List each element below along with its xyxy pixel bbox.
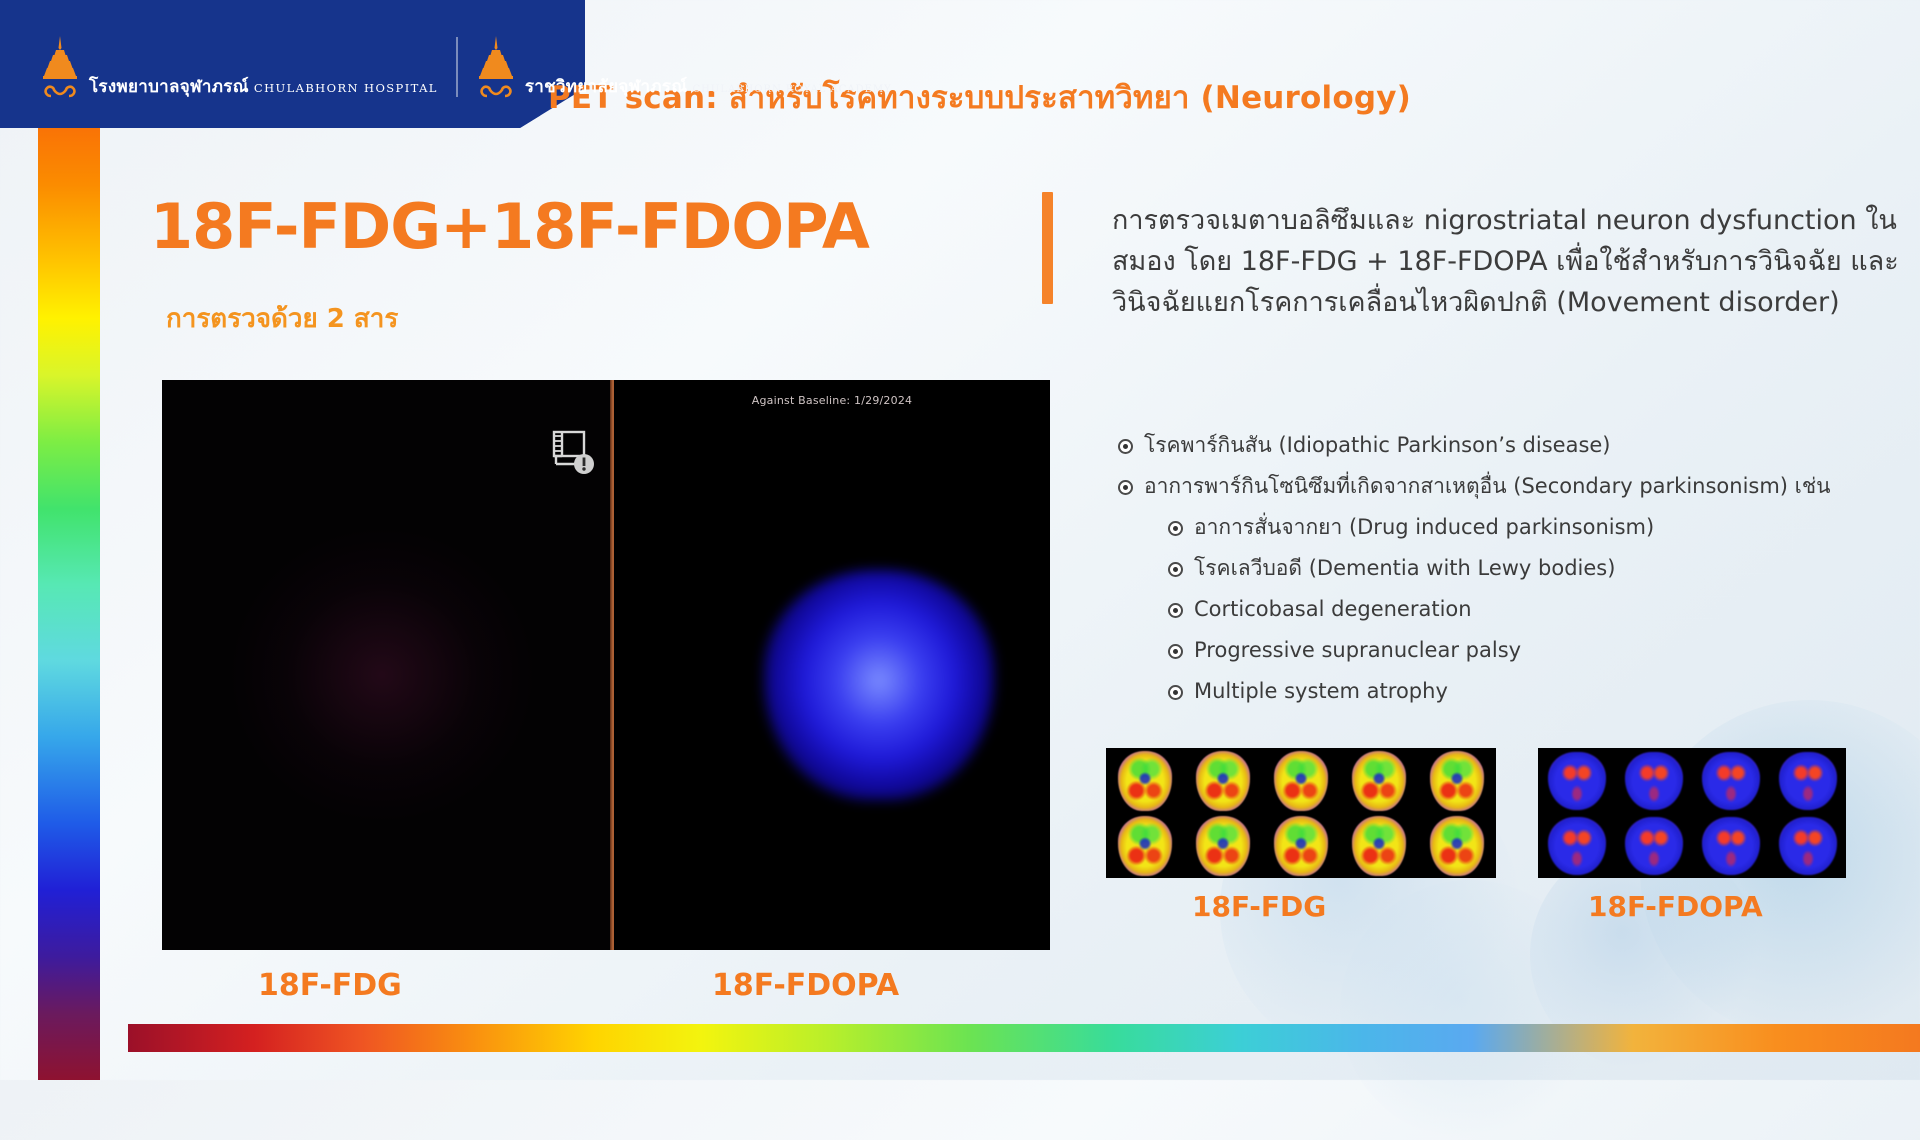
brain-slice — [1340, 813, 1418, 878]
logo-academy-th: ราชวิทยาลัยจุฬาภรณ์ — [525, 77, 688, 97]
logo-group: โรงพยาบาลจุฬาภรณ์ CHULABHORN HOSPITAL — [40, 36, 892, 98]
list-item-label: Progressive supranuclear palsy — [1194, 637, 1521, 664]
logo-hospital-en: CHULABHORN HOSPITAL — [254, 81, 438, 95]
logo-academy-en: CHULABHORN ROYAL ACADEMY — [693, 84, 892, 95]
list-item-label: อาการพาร์กินโซนิซึมที่เกิดจากสาเหตุอื่น … — [1144, 473, 1830, 500]
bullet-icon — [1168, 603, 1183, 618]
brain-slice — [1262, 813, 1340, 878]
brain-slice — [1106, 813, 1184, 878]
viewer-pane-fdopa[interactable]: Against Baseline: 1/29/2024 — [614, 380, 1050, 950]
brain-slice — [1769, 748, 1846, 813]
bullet-icon — [1168, 685, 1183, 700]
bullet-icon — [1168, 521, 1183, 536]
indication-list: โรคพาร์กินสัน (Idiopathic Parkinson’s di… — [1118, 432, 1908, 719]
list-item: โรคเลวีบอดี (Dementia with Lewy bodies) — [1168, 555, 1908, 582]
bullet-icon — [1118, 439, 1133, 454]
brain-slice — [1262, 748, 1340, 813]
fdopa-brain-render — [764, 570, 994, 800]
baseline-label: Against Baseline: 1/29/2024 — [614, 394, 1050, 407]
brain-slice — [1184, 813, 1262, 878]
bullet-icon — [1118, 480, 1133, 495]
pet-image-viewer[interactable]: Against Baseline: 1/29/2024 — [162, 380, 1050, 950]
logo-academy-text: ราชวิทยาลัยจุฬาภรณ์ CHULABHORN ROYAL ACA… — [525, 79, 892, 98]
description-paragraph: การตรวจเมตาบอลิซึมและ nigrostriatal neur… — [1112, 200, 1920, 323]
bullet-icon — [1168, 644, 1183, 659]
main-heading: 18F-FDG+18F-FDOPA — [150, 190, 869, 263]
scan-strip-fdopa[interactable] — [1538, 748, 1846, 878]
list-item-label: โรคพาร์กินสัน (Idiopathic Parkinson’s di… — [1144, 432, 1611, 459]
viewer-pane-fdg[interactable] — [162, 380, 612, 950]
logo-chulabhorn-hospital: โรงพยาบาลจุฬาภรณ์ CHULABHORN HOSPITAL — [40, 36, 438, 98]
scan-label-fdopa: 18F-FDOPA — [1588, 890, 1763, 923]
brain-slice — [1184, 748, 1262, 813]
list-item-label: อาการสั่นจากยา (Drug induced parkinsonis… — [1194, 514, 1654, 541]
list-item: Multiple system atrophy — [1168, 678, 1908, 705]
viewer-caption-fdopa: 18F-FDOPA — [712, 968, 899, 1003]
horizontal-color-scale — [128, 1024, 1920, 1052]
broken-film-icon — [548, 428, 600, 480]
brain-slice — [1340, 748, 1418, 813]
heading-divider — [1042, 192, 1053, 304]
list-item-label: Multiple system atrophy — [1194, 678, 1448, 705]
brain-slice — [1418, 748, 1496, 813]
background-blob — [1340, 880, 1600, 1140]
list-item: Progressive supranuclear palsy — [1168, 637, 1908, 664]
brain-slice — [1538, 748, 1615, 813]
brain-slice — [1769, 813, 1846, 878]
viewer-caption-fdg: 18F-FDG — [258, 968, 402, 1003]
bullet-icon — [1168, 562, 1183, 577]
brain-slice — [1538, 813, 1615, 878]
logo-divider — [456, 37, 458, 97]
brain-slice — [1106, 748, 1184, 813]
vertical-color-scale — [38, 128, 100, 1080]
list-item: Corticobasal degeneration — [1168, 596, 1908, 623]
list-item-label: โรคเลวีบอดี (Dementia with Lewy bodies) — [1194, 555, 1615, 582]
list-item: โรคพาร์กินสัน (Idiopathic Parkinson’s di… — [1118, 432, 1908, 459]
brain-slice — [1615, 748, 1692, 813]
brain-slice — [1418, 813, 1496, 878]
brain-slice — [1615, 813, 1692, 878]
logo-hospital-text: โรงพยาบาลจุฬาภรณ์ CHULABHORN HOSPITAL — [89, 79, 438, 98]
brain-slice — [1692, 813, 1769, 878]
scan-strip-fdg[interactable] — [1106, 748, 1496, 878]
list-item: อาการพาร์กินโซนิซึมที่เกิดจากสาเหตุอื่น … — [1118, 473, 1908, 500]
sub-heading: การตรวจด้วย 2 สาร — [166, 298, 398, 339]
stupa-icon — [40, 36, 80, 98]
brain-slice — [1692, 748, 1769, 813]
list-item: อาการสั่นจากยา (Drug induced parkinsonis… — [1168, 514, 1908, 541]
list-item-label: Corticobasal degeneration — [1194, 596, 1472, 623]
logo-chulabhorn-royal-academy: ราชวิทยาลัยจุฬาภรณ์ CHULABHORN ROYAL ACA… — [476, 36, 892, 98]
logo-hospital-th: โรงพยาบาลจุฬาภรณ์ — [89, 77, 249, 97]
stupa-icon — [476, 36, 516, 98]
fdg-brain-render — [232, 530, 532, 820]
scan-label-fdg: 18F-FDG — [1192, 890, 1326, 923]
